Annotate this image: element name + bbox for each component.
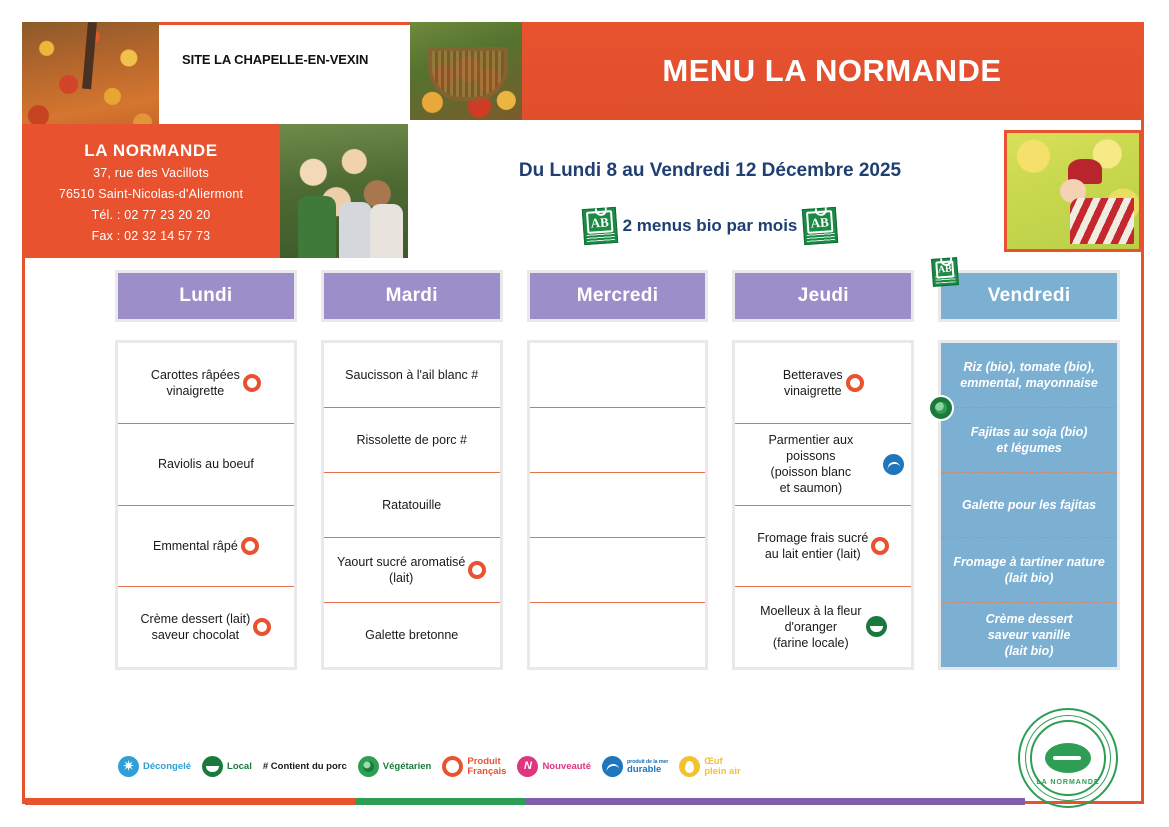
day-column-lundi: LundiCarottes râpéesvinaigretteRaviolis … xyxy=(115,270,297,670)
produit-francais-icon xyxy=(442,756,463,777)
legend-label: Décongelé xyxy=(143,762,191,772)
produit-francais-icon xyxy=(468,561,486,579)
meal-cell[interactable]: Emmental râpé xyxy=(118,505,294,586)
local-icon xyxy=(202,756,223,777)
bar-segment-orange xyxy=(25,798,355,805)
day-header-mercredi[interactable]: Mercredi xyxy=(527,270,709,322)
meal-text: Emmental râpé xyxy=(153,538,238,554)
meal-text: Betteravesvinaigrette xyxy=(783,367,843,399)
ab-organic-icon-left: AB xyxy=(581,207,617,245)
meal-cell[interactable] xyxy=(530,537,706,602)
legend-label: Nouveauté xyxy=(542,762,591,772)
week-grid: LundiCarottes râpéesvinaigretteRaviolis … xyxy=(115,270,1120,670)
stamp-label: LA NORMANDE xyxy=(1020,779,1116,786)
day-header-vendredi[interactable]: Vendredi xyxy=(938,270,1120,322)
meal-cell[interactable]: Fromage frais sucréau lait entier (lait) xyxy=(735,505,911,586)
day-column-jeudi: JeudiBetteravesvinaigretteParmentier aux… xyxy=(732,270,914,670)
day-header-jeudi[interactable]: Jeudi xyxy=(732,270,914,322)
vegetarien-icon xyxy=(928,395,954,421)
contact-block: LA NORMANDE 37, rue des Vacillots 76510 … xyxy=(22,124,280,258)
company-name: LA NORMANDE xyxy=(22,141,280,161)
fax-line: Fax : 02 32 14 57 73 xyxy=(22,228,280,245)
meal-text: Yaourt sucré aromatisé(lait) xyxy=(337,554,465,586)
legend-label: ProduitFrançais xyxy=(467,757,506,777)
meal-text: Ratatouille xyxy=(382,497,441,513)
meal-cell[interactable]: Saucisson à l'ail blanc # xyxy=(324,343,500,407)
address-line-2: 76510 Saint-Nicolas-d'Aliermont xyxy=(22,186,280,203)
ab-organic-icon-right: AB xyxy=(802,207,838,245)
legend: DécongeléLocal# Contient du porcVégétari… xyxy=(118,756,741,777)
meal-cell[interactable]: Galette bretonne xyxy=(324,602,500,667)
day-column-mardi: MardiSaucisson à l'ail blanc #Rissolette… xyxy=(321,270,503,670)
meal-text: Raviolis au boeuf xyxy=(158,456,254,472)
menu-title: MENU LA NORMANDE xyxy=(522,53,1142,89)
meal-text: Riz (bio), tomate (bio),emmental, mayonn… xyxy=(960,359,1098,391)
bio-note-text: 2 menus bio par mois xyxy=(623,216,798,236)
meal-cell[interactable]: Crème dessert (lait)saveur chocolat xyxy=(118,586,294,667)
oeuf-plein-air-icon xyxy=(679,756,700,777)
meal-cell[interactable]: Raviolis au boeuf xyxy=(118,423,294,504)
date-range: Du Lundi 8 au Vendredi 12 Décembre 2025 xyxy=(430,160,990,182)
address-line-1: 37, rue des Vacillots xyxy=(22,165,280,182)
day-column-mercredi: Mercredi xyxy=(527,270,709,670)
produit-francais-icon xyxy=(846,374,864,392)
bio-note-row: AB 2 menus bio par mois AB xyxy=(430,204,990,248)
meal-cell[interactable]: Fromage à tartiner nature(lait bio) xyxy=(941,537,1117,602)
meal-text: Fromage à tartiner nature(lait bio) xyxy=(953,554,1104,586)
meal-text: Parmentier aux poissons(poisson blancet … xyxy=(742,432,879,496)
day-header-mardi[interactable]: Mardi xyxy=(321,270,503,322)
meal-cell[interactable]: Carottes râpéesvinaigrette xyxy=(118,343,294,423)
legend-label: Végétarien xyxy=(383,762,432,772)
legend-item: produit de la merdurable xyxy=(602,756,668,777)
menu-title-banner: MENU LA NORMANDE xyxy=(522,22,1142,120)
meal-text: Moelleux à la fleurd'oranger(farine loca… xyxy=(760,603,861,651)
bar-segment-green xyxy=(355,798,525,805)
meal-text: Carottes râpéesvinaigrette xyxy=(151,367,240,399)
bottom-color-bar xyxy=(25,798,1025,805)
meal-text: Galette pour les fajitas xyxy=(962,497,1096,513)
meal-cell[interactable]: Rissolette de porc # xyxy=(324,407,500,472)
local-icon xyxy=(866,616,887,637)
legend-label: # Contient du porc xyxy=(263,762,347,772)
meal-text: Saucisson à l'ail blanc # xyxy=(345,367,478,383)
meal-cell[interactable] xyxy=(530,602,706,667)
ab-organic-icon-vendredi: AB xyxy=(931,257,959,287)
nouveaute-icon xyxy=(517,756,538,777)
meal-cell[interactable]: Galette pour les fajitas xyxy=(941,472,1117,537)
vegetarien-icon xyxy=(358,756,379,777)
produit-mer-durable-icon xyxy=(602,756,623,777)
meal-cell[interactable]: Betteravesvinaigrette xyxy=(735,343,911,423)
produit-francais-icon xyxy=(241,537,259,555)
meal-text: Crème dessert (lait)saveur chocolat xyxy=(141,611,251,643)
frozen-icon xyxy=(118,756,139,777)
meal-cell[interactable]: Ratatouille xyxy=(324,472,500,537)
meal-text: Crème dessertsaveur vanille(lait bio) xyxy=(986,611,1073,659)
meal-cell[interactable] xyxy=(530,343,706,407)
meal-cell[interactable]: Parmentier aux poissons(poisson blancet … xyxy=(735,423,911,504)
produit-francais-icon xyxy=(253,618,271,636)
legend-item: Local xyxy=(202,756,252,777)
meal-cell[interactable]: Riz (bio), tomate (bio),emmental, mayonn… xyxy=(941,343,1117,407)
day-meals-mercredi xyxy=(527,340,709,670)
menu-page: SITE LA CHAPELLE-EN-VEXIN MENU LA NORMAN… xyxy=(0,0,1169,827)
produit-francais-icon xyxy=(871,537,889,555)
day-meals-mardi: Saucisson à l'ail blanc #Rissolette de p… xyxy=(321,340,503,670)
children-photo xyxy=(280,124,408,258)
phone-line: Tél. : 02 77 23 20 20 xyxy=(22,207,280,224)
meal-cell[interactable] xyxy=(530,407,706,472)
la-normande-stamp-logo: LA NORMANDE xyxy=(1018,708,1118,808)
meal-text: Rissolette de porc # xyxy=(356,432,466,448)
apple-basket-photo xyxy=(410,22,522,120)
legend-item: # Contient du porc xyxy=(263,762,347,772)
legend-item: Nouveauté xyxy=(517,756,591,777)
legend-item: Végétarien xyxy=(358,756,432,777)
meal-cell[interactable]: Fajitas au soja (bio)et légumes xyxy=(941,407,1117,472)
meal-cell[interactable] xyxy=(530,472,706,537)
meal-cell[interactable]: Crème dessertsaveur vanille(lait bio) xyxy=(941,602,1117,667)
bar-segment-purple xyxy=(525,798,1025,805)
legend-label: Local xyxy=(227,762,252,772)
site-title: SITE LA CHAPELLE-EN-VEXIN xyxy=(182,52,368,67)
meal-text: Fromage frais sucréau lait entier (lait) xyxy=(757,530,868,562)
legend-item: Décongelé xyxy=(118,756,191,777)
meal-cell[interactable]: Moelleux à la fleurd'oranger(farine loca… xyxy=(735,586,911,667)
legend-item: ProduitFrançais xyxy=(442,756,506,777)
produit-francais-icon xyxy=(243,374,261,392)
legend-item: Œufplein air xyxy=(679,756,740,777)
meal-text: Galette bretonne xyxy=(365,627,458,643)
legend-label: Œufplein air xyxy=(704,757,740,777)
meal-text: Fajitas au soja (bio)et légumes xyxy=(971,424,1088,456)
day-meals-lundi: Carottes râpéesvinaigretteRaviolis au bo… xyxy=(115,340,297,670)
legend-label: produit de la merdurable xyxy=(627,759,668,775)
day-column-vendredi: VendrediRiz (bio), tomate (bio),emmental… xyxy=(938,270,1120,670)
day-header-lundi[interactable]: Lundi xyxy=(115,270,297,322)
girl-in-leaves-photo xyxy=(1004,130,1142,252)
day-meals-vendredi: Riz (bio), tomate (bio),emmental, mayonn… xyxy=(938,340,1120,670)
day-meals-jeudi: BetteravesvinaigretteParmentier aux pois… xyxy=(732,340,914,670)
produit-mer-durable-icon xyxy=(883,454,904,475)
meal-cell[interactable]: Yaourt sucré aromatisé(lait) xyxy=(324,537,500,602)
